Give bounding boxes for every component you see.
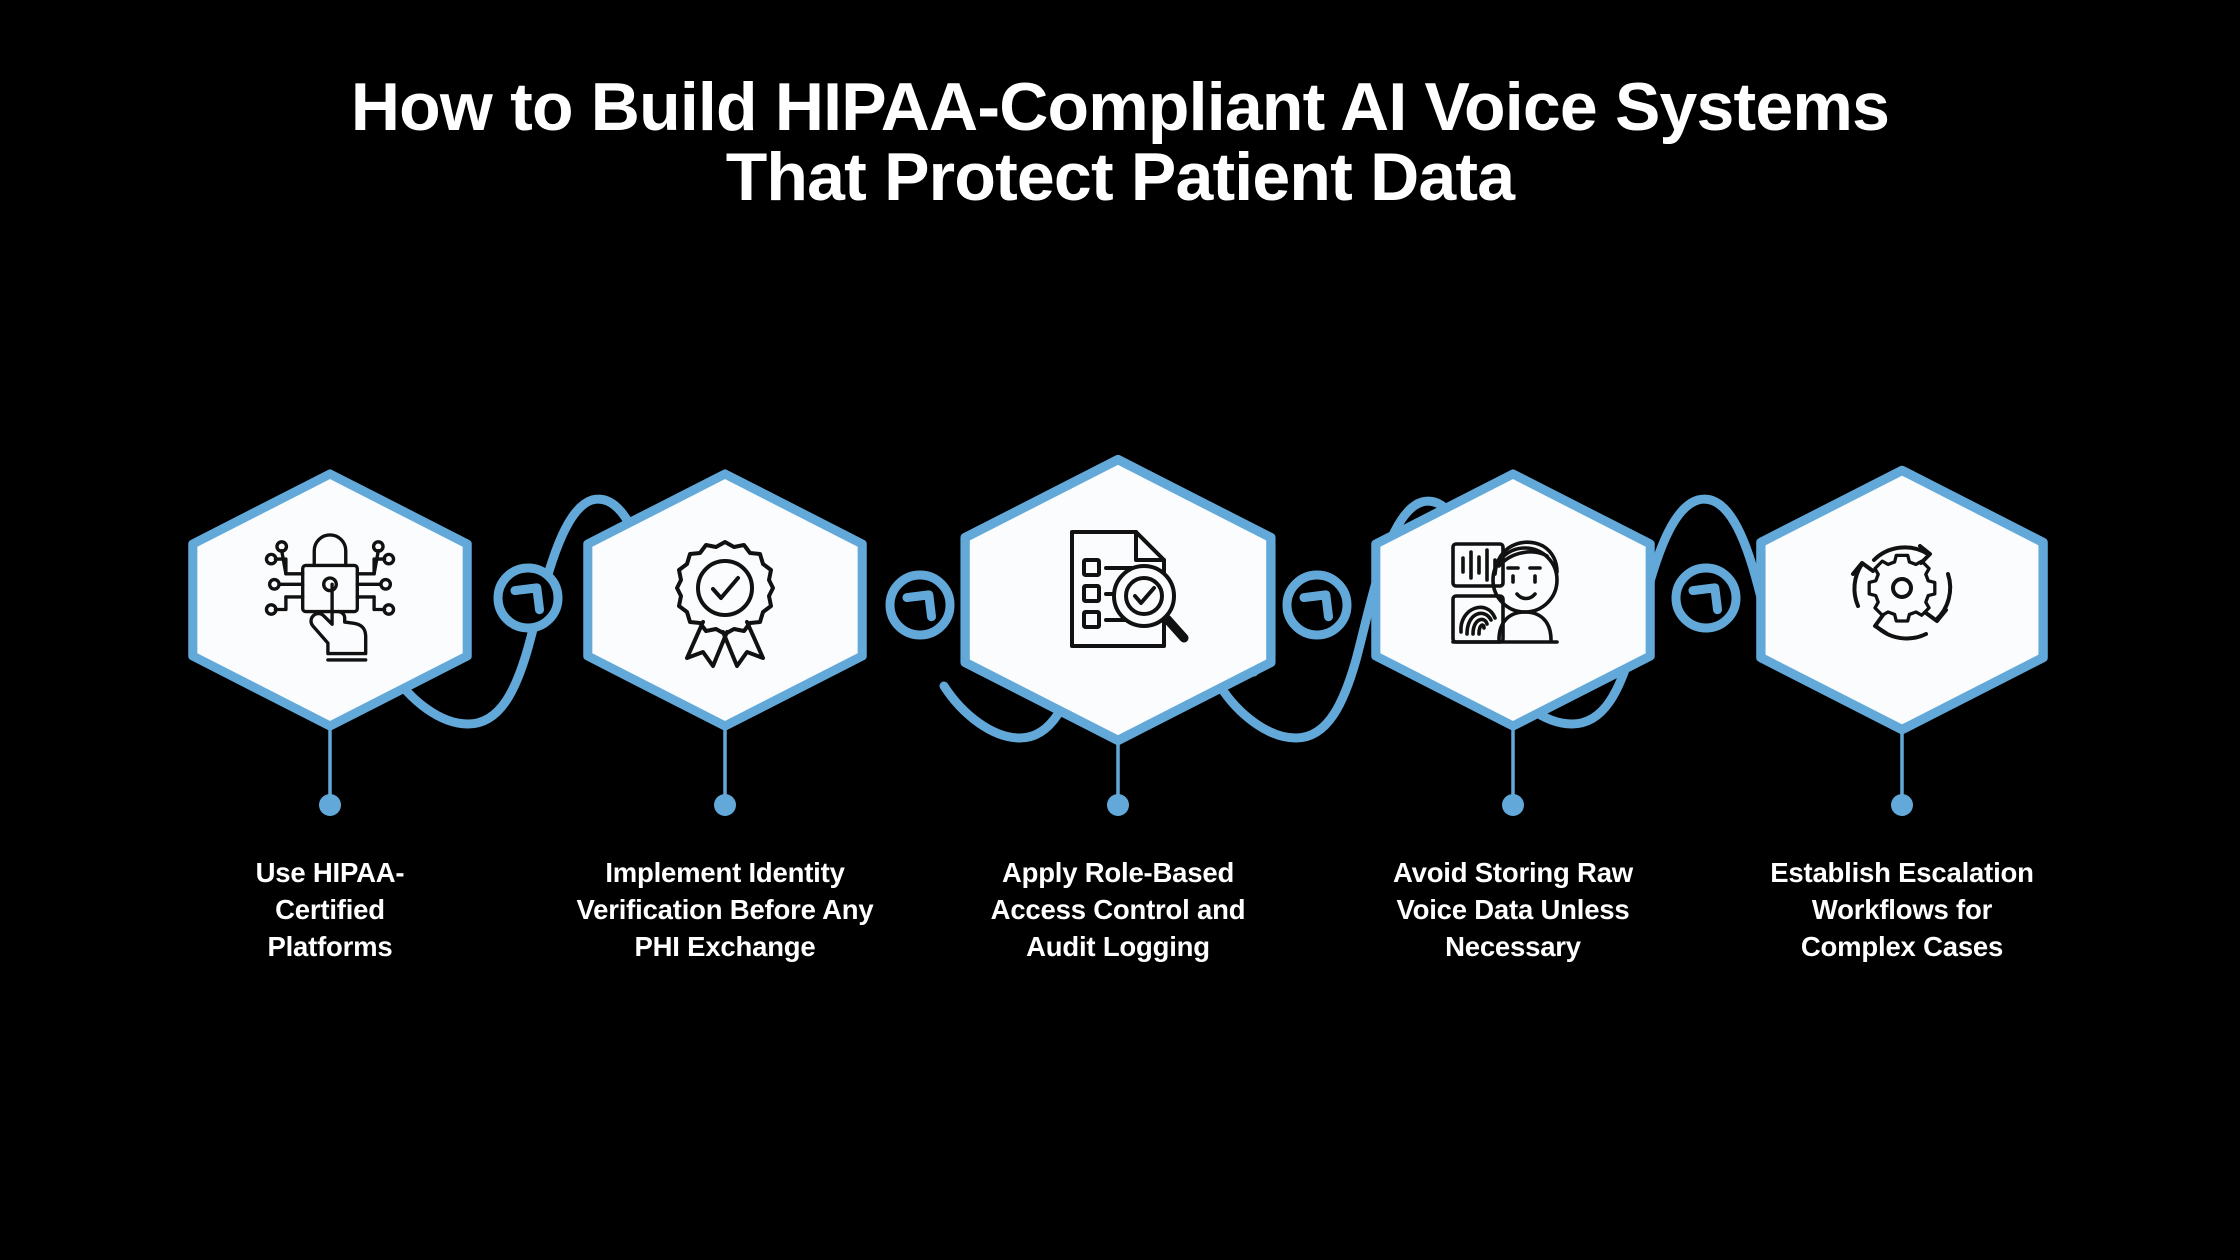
hexagon-4[interactable] bbox=[1376, 474, 1650, 726]
connector-node-4[interactable] bbox=[1676, 568, 1736, 628]
caption-line: PHI Exchange bbox=[525, 929, 925, 966]
caption-line: Voice Data Unless bbox=[1348, 892, 1678, 929]
caption-step-2: Implement Identity Verification Before A… bbox=[525, 855, 925, 966]
process-step-2[interactable] bbox=[588, 474, 862, 726]
caption-line: Certified bbox=[180, 892, 480, 929]
caption-line: Audit Logging bbox=[948, 929, 1288, 966]
caption-line: Verification Before Any bbox=[525, 892, 925, 929]
caption-line: Workflows for bbox=[1727, 892, 2077, 929]
caption-step-3: Apply Role-Based Access Control and Audi… bbox=[948, 855, 1288, 966]
connector-circle-1[interactable] bbox=[498, 568, 558, 628]
stem-dot-3 bbox=[1107, 794, 1129, 816]
process-step-1[interactable] bbox=[193, 474, 467, 726]
connector-circle-3[interactable] bbox=[1287, 575, 1347, 635]
connector-node-2[interactable] bbox=[890, 575, 950, 635]
caption-line: Platforms bbox=[180, 929, 480, 966]
hexagon-1[interactable] bbox=[193, 474, 467, 726]
connector-circle-2[interactable] bbox=[890, 575, 950, 635]
connector-node-3[interactable] bbox=[1287, 575, 1347, 635]
caption-step-1: Use HIPAA- Certified Platforms bbox=[180, 855, 480, 966]
process-step-4[interactable] bbox=[1376, 474, 1650, 726]
caption-group: Use HIPAA- Certified Platforms Implement… bbox=[0, 855, 2240, 995]
caption-step-5: Establish Escalation Workflows for Compl… bbox=[1727, 855, 2077, 966]
caption-line: Establish Escalation bbox=[1727, 855, 2077, 892]
caption-line: Use HIPAA- bbox=[180, 855, 480, 892]
caption-line: Necessary bbox=[1348, 929, 1678, 966]
infographic-canvas: How to Build HIPAA-Compliant AI Voice Sy… bbox=[0, 0, 2240, 1260]
stem-dot-1 bbox=[319, 794, 341, 816]
stem-dot-5 bbox=[1891, 794, 1913, 816]
connector-circle-4[interactable] bbox=[1676, 568, 1736, 628]
caption-line: Apply Role-Based bbox=[948, 855, 1288, 892]
caption-step-4: Avoid Storing Raw Voice Data Unless Nece… bbox=[1348, 855, 1678, 966]
caption-line: Complex Cases bbox=[1727, 929, 2077, 966]
hexagon-5[interactable] bbox=[1761, 470, 2043, 729]
process-step-5[interactable] bbox=[1761, 470, 2043, 729]
caption-line: Access Control and bbox=[948, 892, 1288, 929]
caption-line: Avoid Storing Raw bbox=[1348, 855, 1678, 892]
stem-dot-2 bbox=[714, 794, 736, 816]
connector-node-1[interactable] bbox=[498, 568, 558, 628]
stem-dot-4 bbox=[1502, 794, 1524, 816]
caption-line: Implement Identity bbox=[525, 855, 925, 892]
hexagon-2[interactable] bbox=[588, 474, 862, 726]
process-flow-diagram bbox=[0, 0, 2240, 1260]
